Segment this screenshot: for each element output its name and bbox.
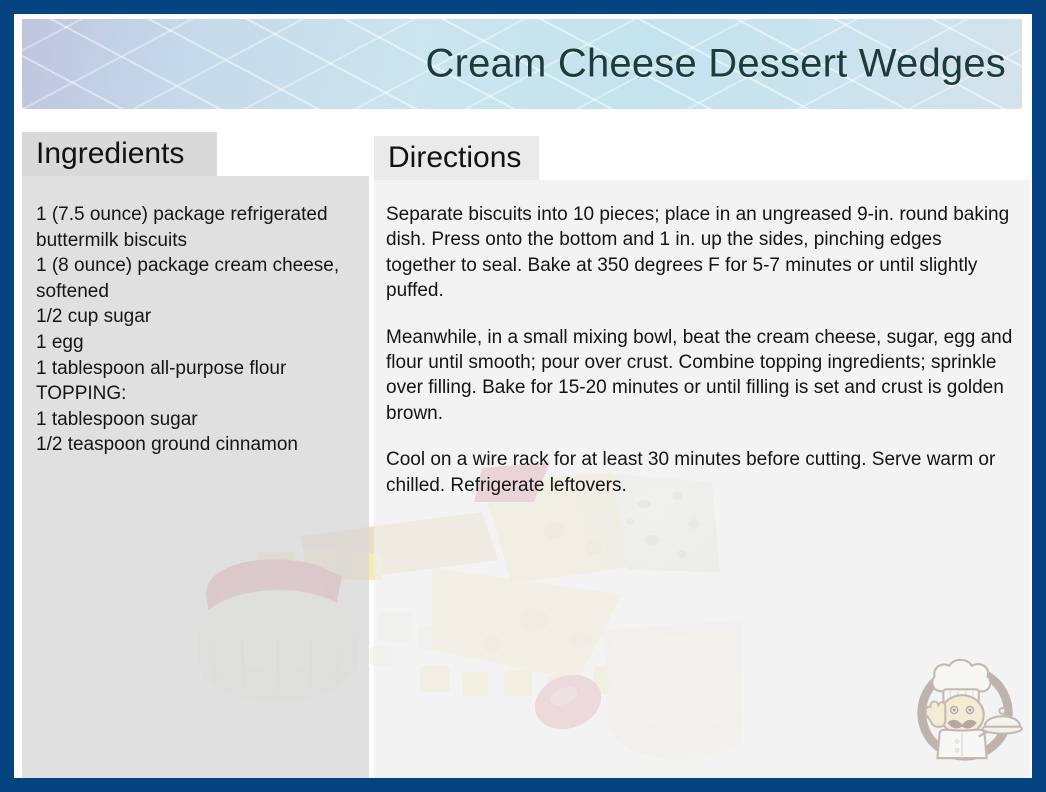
list-item: 1/2 cup sugar — [36, 304, 359, 330]
list-item: 1 (8 ounce) package cream cheese, soften… — [36, 253, 359, 304]
direction-paragraph: Cool on a wire rack for at least 30 minu… — [386, 447, 1014, 498]
list-item: 1 tablespoon all-purpose flour — [36, 356, 359, 382]
ingredients-panel: Ingredients 1 (7.5 ounce) package refrig… — [22, 132, 369, 778]
ingredients-body: 1 (7.5 ounce) package refrigerated butte… — [22, 176, 369, 778]
directions-body: Separate biscuits into 10 pieces; place … — [374, 180, 1030, 778]
ingredient-list: 1 (7.5 ounce) package refrigerated butte… — [36, 202, 359, 458]
header-banner: Cream Cheese Dessert Wedges — [22, 19, 1022, 109]
direction-paragraph: Separate biscuits into 10 pieces; place … — [386, 202, 1014, 304]
list-item: 1 egg — [36, 330, 359, 356]
directions-heading: Directions — [388, 143, 521, 173]
direction-paragraph: Meanwhile, in a small mixing bowl, beat … — [386, 325, 1014, 427]
list-item: 1/2 teaspoon ground cinnamon — [36, 432, 359, 458]
directions-header-tab: Directions — [374, 136, 539, 180]
ingredients-header-tab: Ingredients — [22, 132, 217, 176]
directions-panel: Directions Separate biscuits into 10 pie… — [374, 136, 1030, 778]
ingredients-heading: Ingredients — [36, 139, 184, 169]
list-item: TOPPING: — [36, 381, 359, 407]
page-title: Cream Cheese Dessert Wedges — [426, 42, 1006, 87]
recipe-card-inner: Cream Cheese Dessert Wedges Ingredients … — [14, 14, 1032, 778]
list-item: 1 (7.5 ounce) package refrigerated butte… — [36, 202, 359, 253]
list-item: 1 tablespoon sugar — [36, 407, 359, 433]
recipe-card-frame: Cream Cheese Dessert Wedges Ingredients … — [0, 0, 1046, 792]
